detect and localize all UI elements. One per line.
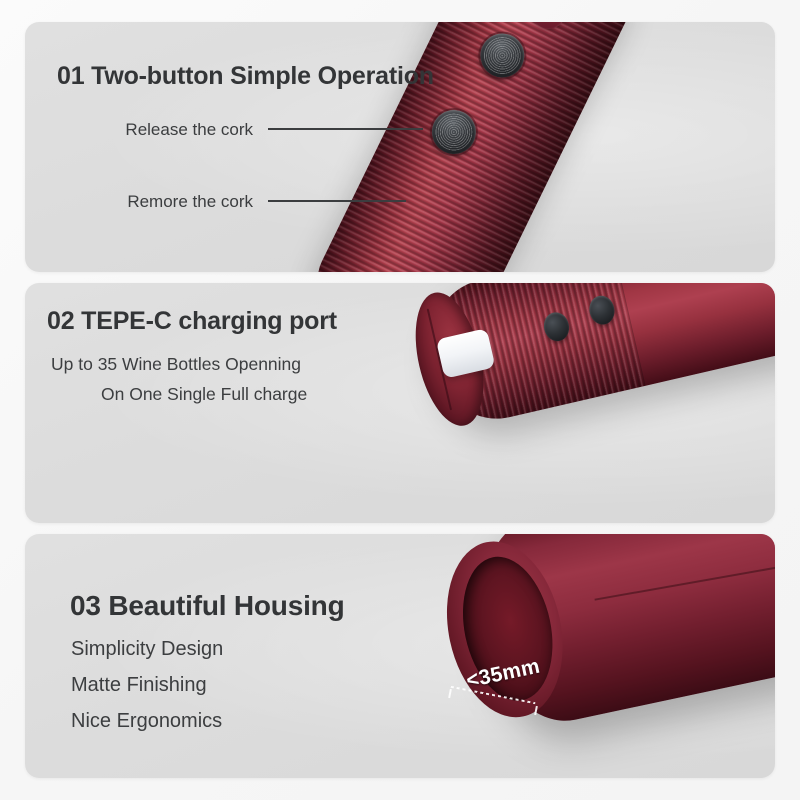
product-infographic: 01 Two-button Simple Operation Release t… (0, 0, 800, 800)
feature-panel-03: 03 Beautiful Housing Simplicity Design M… (25, 534, 775, 778)
feature-line-simplicity-design: Simplicity Design (71, 638, 223, 661)
feature-panel-01: 01 Two-button Simple Operation Release t… (25, 22, 775, 272)
leader-line-remove-cork (268, 200, 406, 202)
feature-line-nice-ergonomics: Nice Ergonomics (71, 710, 222, 733)
opener-body (296, 22, 653, 272)
smooth-wine-opener-bore-image (429, 534, 775, 742)
feature-panel-02: 02 TEPE-C charging port Up to 35 Wine Bo… (25, 283, 775, 523)
panel-03-title: 03 Beautiful Housing (70, 590, 344, 622)
panel-01-title: 01 Two-button Simple Operation (57, 62, 434, 91)
body-shading (296, 22, 653, 272)
callout-label-release-cork: Release the cork (113, 120, 253, 140)
wine-opener-charging-image (417, 283, 775, 431)
feature-line-matte-finishing: Matte Finishing (71, 674, 207, 697)
callout-label-remove-cork: Remore the cork (113, 192, 253, 212)
panel-02-subline-2: On One Single Full charge (101, 384, 307, 405)
panel-02-title: 02 TEPE-C charging port (47, 307, 337, 336)
ribbed-wine-opener-angled-image (296, 22, 653, 272)
leader-line-release-cork (268, 128, 423, 130)
panel-02-subline-1: Up to 35 Wine Bottles Openning (51, 354, 301, 375)
